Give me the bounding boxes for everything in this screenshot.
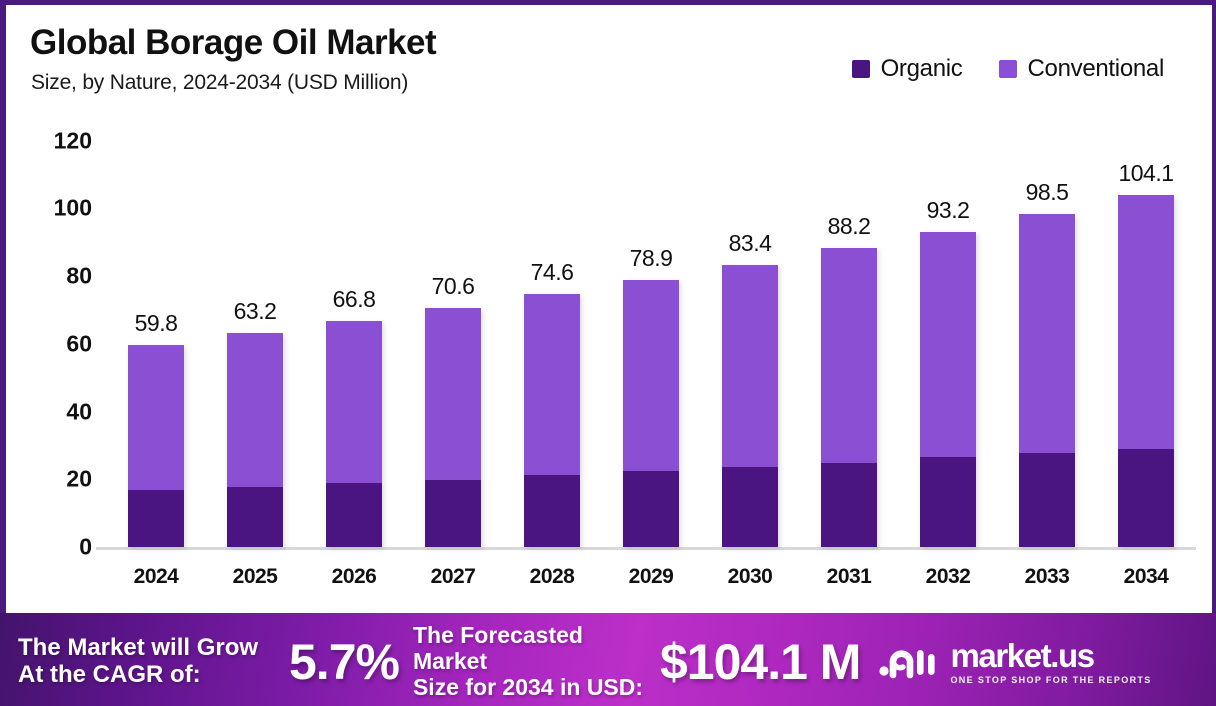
legend-item-organic[interactable]: Organic [852,55,963,83]
summary-banner: The Market will Grow At the CAGR of: 5.7… [0,613,1216,706]
bar-segment-organic[interactable] [524,475,580,547]
chart-subtitle: Size, by Nature, 2024-2034 (USD Million) [31,71,408,95]
bar-value-label: 66.8 [333,286,376,313]
chart-header: Global Borage Oil Market Size, by Nature… [6,5,1212,113]
bar-segment-organic[interactable] [128,490,184,547]
bar-segment-organic[interactable] [425,480,481,547]
bar-value-label: 70.6 [432,273,475,300]
stacked-bar[interactable]: 63.2 [227,333,283,547]
bar-group[interactable]: 93.2 [920,232,976,548]
bar-group[interactable]: 63.2 [227,333,283,547]
bar-segment-conventional[interactable] [920,232,976,458]
x-axis: 2024202520262027202820292030203120322033… [100,553,1200,593]
x-axis-tick: 2025 [227,565,283,589]
chart-plot-area: 020406080100120 59.863.266.870.674.678.9… [6,113,1212,607]
chart-infographic: Global Borage Oil Market Size, by Nature… [0,0,1216,706]
logo-text: market.us ONE STOP SHOP FOR THE REPORTS [950,639,1151,685]
bar-segment-conventional[interactable] [227,333,283,487]
bar-segment-organic[interactable] [227,487,283,547]
legend-label-organic: Organic [881,55,963,83]
forecast-label-line2: Size for 2034 in USD: [413,675,658,701]
x-axis-line [96,547,1196,550]
x-axis-tick: 2030 [722,565,778,589]
y-axis: 020406080100120 [6,113,100,553]
y-axis-tick: 0 [79,534,92,561]
x-axis-tick: 2027 [425,565,481,589]
stacked-bar[interactable]: 66.8 [326,321,382,547]
cagr-label-line1: The Market will Grow [18,635,283,662]
stacked-bar[interactable]: 104.1 [1118,195,1174,547]
forecast-value: $104.1 M [660,633,860,691]
bar-segment-conventional[interactable] [1118,195,1174,449]
bar-segment-conventional[interactable] [1019,214,1075,453]
stacked-bar[interactable]: 74.6 [524,294,580,547]
legend-swatch-organic [852,60,870,78]
y-axis-tick: 100 [54,195,92,222]
logo-wordmark: market.us [950,639,1151,672]
bar-group[interactable]: 74.6 [524,294,580,547]
stacked-bar[interactable]: 70.6 [425,308,481,547]
bar-segment-organic[interactable] [920,457,976,547]
bar-value-label: 83.4 [729,230,772,257]
x-axis-tick: 2026 [326,565,382,589]
cagr-label-line2: At the CAGR of: [18,662,283,689]
x-axis-tick: 2029 [623,565,679,589]
forecast-label: The Forecasted Market Size for 2034 in U… [413,623,658,700]
bar-value-label: 59.8 [135,310,178,337]
bar-segment-organic[interactable] [1019,453,1075,547]
bar-segment-conventional[interactable] [128,345,184,491]
bar-segment-organic[interactable] [326,483,382,547]
bar-segment-conventional[interactable] [722,265,778,467]
x-axis-tick: 2024 [128,565,184,589]
cagr-value: 5.7% [289,633,399,691]
x-axis-tick: 2033 [1019,565,1075,589]
bar-segment-conventional[interactable] [623,280,679,471]
bar-group[interactable]: 70.6 [425,308,481,547]
bar-value-label: 93.2 [927,197,970,224]
bar-value-label: 104.1 [1118,160,1173,187]
legend-item-conventional[interactable]: Conventional [999,55,1165,83]
legend-swatch-conventional [999,60,1017,78]
stacked-bar[interactable]: 98.5 [1019,214,1075,547]
bar-group[interactable]: 83.4 [722,265,778,547]
chart-legend: Organic Conventional [852,55,1164,83]
bar-group[interactable]: 88.2 [821,248,877,547]
x-axis-tick: 2028 [524,565,580,589]
bar-group[interactable]: 98.5 [1019,214,1075,547]
bar-value-label: 98.5 [1026,179,1069,206]
y-axis-tick: 40 [66,398,92,425]
bar-segment-organic[interactable] [623,471,679,547]
stacked-bar[interactable]: 88.2 [821,248,877,547]
bar-value-label: 63.2 [234,298,277,325]
bar-segment-conventional[interactable] [425,308,481,480]
bar-series-group: 59.863.266.870.674.678.983.488.293.298.5… [100,113,1200,547]
x-axis-tick: 2032 [920,565,976,589]
cagr-label: The Market will Grow At the CAGR of: [18,635,283,689]
page-title: Global Borage Oil Market [30,23,436,63]
bar-group[interactable]: 104.1 [1118,195,1174,547]
legend-label-conventional: Conventional [1028,55,1165,83]
bar-segment-organic[interactable] [722,467,778,547]
y-axis-tick: 60 [66,330,92,357]
bar-value-label: 74.6 [531,259,574,286]
bar-segment-conventional[interactable] [524,294,580,475]
bar-group[interactable]: 59.8 [128,345,184,547]
bar-segment-organic[interactable] [821,463,877,547]
stacked-bar[interactable]: 59.8 [128,345,184,547]
bar-value-label: 78.9 [630,245,673,272]
forecast-label-line1: The Forecasted Market [413,623,658,675]
stacked-bar[interactable]: 93.2 [920,232,976,548]
logo-tagline: ONE STOP SHOP FOR THE REPORTS [950,675,1151,685]
y-axis-tick: 20 [66,466,92,493]
bar-group[interactable]: 66.8 [326,321,382,547]
bar-segment-conventional[interactable] [326,321,382,483]
y-axis-tick: 80 [66,263,92,290]
bar-value-label: 88.2 [828,213,871,240]
bar-group[interactable]: 78.9 [623,280,679,547]
bar-segment-conventional[interactable] [821,248,877,462]
bar-segment-organic[interactable] [1118,449,1174,547]
x-axis-tick: 2031 [821,565,877,589]
y-axis-tick: 120 [54,127,92,154]
market-us-logo-icon [878,641,940,683]
x-axis-tick: 2034 [1118,565,1174,589]
brand-logo[interactable]: market.us ONE STOP SHOP FOR THE REPORTS [878,639,1151,685]
stacked-bar[interactable]: 78.9 [623,280,679,547]
stacked-bar[interactable]: 83.4 [722,265,778,547]
